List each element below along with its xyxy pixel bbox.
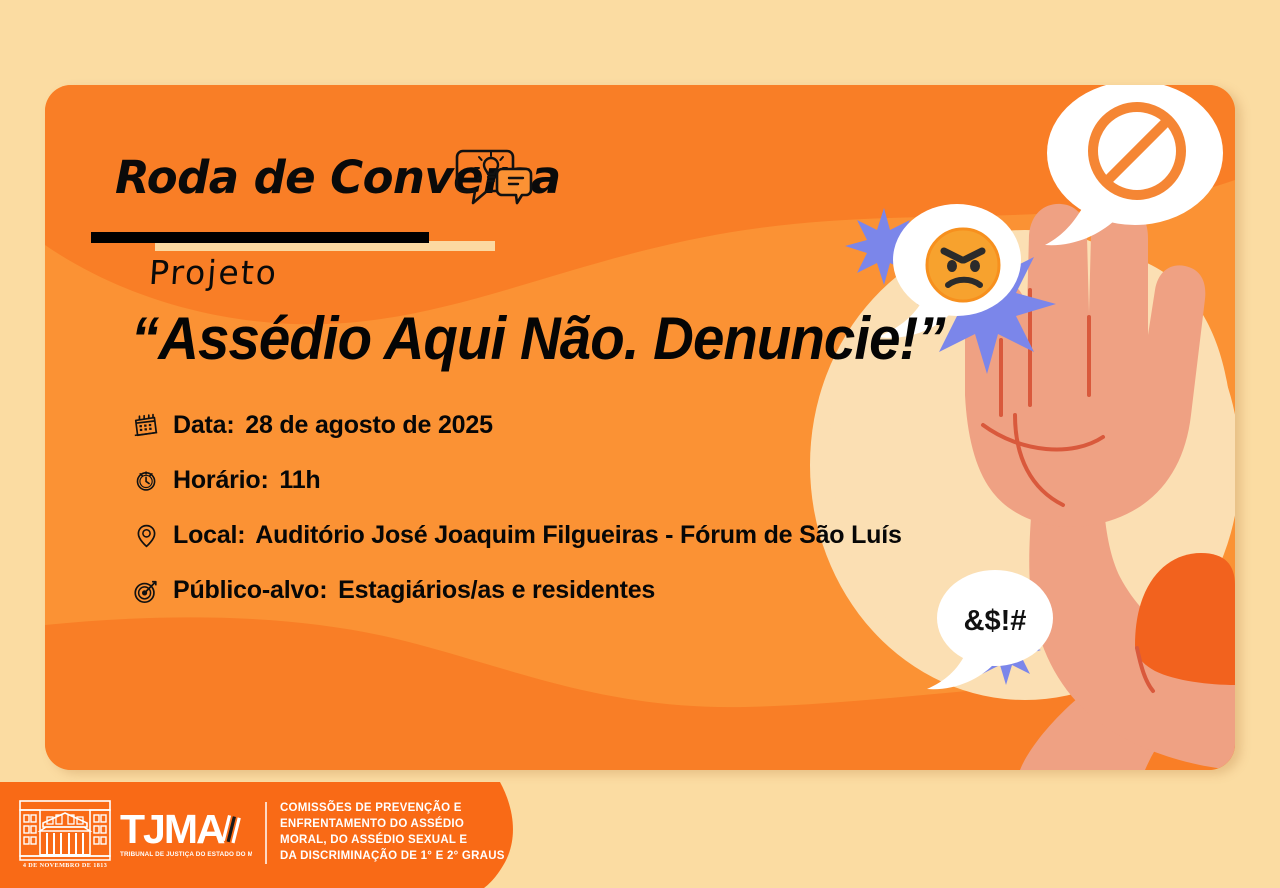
- clock-icon: [131, 465, 161, 497]
- page-title: “Assédio Aqui Não. Denuncie!”: [131, 307, 945, 371]
- tjma-subtitle: TRIBUNAL DE JUSTIÇA DO ESTADO DO MARANHÃ…: [120, 849, 252, 858]
- tjma-wordmark: TJMA TRIBUNAL DE JUSTIÇA DO ESTADO DO MA…: [120, 807, 252, 859]
- tjma-logo: TJMA TRIBUNAL DE JUSTIÇA DO ESTADO DO MA…: [120, 807, 252, 859]
- detail-row-text: Público-alvo: Estagiários/as e residente…: [173, 576, 655, 605]
- detail-value-time: 11h: [279, 466, 320, 494]
- footer-bar: 4 DE NOVEMBRO DE 1813 TJMA TRIBUNAL DE J…: [0, 782, 560, 888]
- speech-bubble-lightbulb-icon: [455, 145, 533, 207]
- detail-row-time: Horário: 11h: [131, 453, 991, 508]
- detail-label-date: Data:: [173, 411, 235, 439]
- detail-label-location: Local:: [173, 521, 245, 549]
- detail-row-text: Local: Auditório José Joaquim Filgueiras…: [173, 521, 902, 550]
- detail-value-audience: Estagiários/as e residentes: [338, 576, 655, 604]
- location-pin-icon: [131, 520, 161, 552]
- title-eyebrow: Projeto: [148, 256, 279, 289]
- target-dart-icon: [131, 575, 161, 607]
- tjma-courthouse-crest-icon: 4 DE NOVEMBRO DE 1813: [18, 797, 112, 869]
- tjma-text: TJMA: [120, 807, 225, 852]
- detail-value-location: Auditório José Joaquim Filgueiras - Fóru…: [255, 521, 901, 549]
- footer-divider: [265, 802, 267, 864]
- footer-description-line: COMISSÕES DE PREVENÇÃO E: [280, 801, 505, 817]
- footer-description-line: ENFRENTAMENTO DO ASSÉDIO: [280, 817, 505, 833]
- footer-description-line: DA DISCRIMINAÇÃO DE 1° E 2° GRAUS: [280, 849, 505, 865]
- detail-row-text: Data: 28 de agosto de 2025: [173, 411, 493, 440]
- detail-label-time: Horário:: [173, 466, 269, 494]
- detail-label-audience: Público-alvo:: [173, 576, 327, 604]
- footer-description-line: MORAL, DO ASSÉDIO SEXUAL E: [280, 833, 505, 849]
- detail-row-location: Local: Auditório José Joaquim Filgueiras…: [131, 508, 991, 563]
- poster-card: &$!# Roda de Conversa Projeto “Assédio A…: [45, 85, 1235, 770]
- crest-caption: 4 DE NOVEMBRO DE 1813: [23, 862, 107, 869]
- detail-value-date: 28 de agosto de 2025: [245, 411, 493, 439]
- poster-stage: &$!# Roda de Conversa Projeto “Assédio A…: [0, 0, 1280, 888]
- footer-description: COMISSÕES DE PREVENÇÃO E ENFRENTAMENTO D…: [280, 801, 505, 864]
- detail-row-text: Horário: 11h: [173, 466, 321, 495]
- footer-content: 4 DE NOVEMBRO DE 1813 TJMA TRIBUNAL DE J…: [18, 796, 505, 870]
- event-details-list: Data: 28 de agosto de 2025 Horário: 11h: [131, 398, 991, 618]
- underline-bar-black: [91, 232, 429, 243]
- detail-row-date: Data: 28 de agosto de 2025: [131, 398, 991, 453]
- calendar-icon: [131, 410, 161, 442]
- detail-row-audience: Público-alvo: Estagiários/as e residente…: [131, 563, 991, 618]
